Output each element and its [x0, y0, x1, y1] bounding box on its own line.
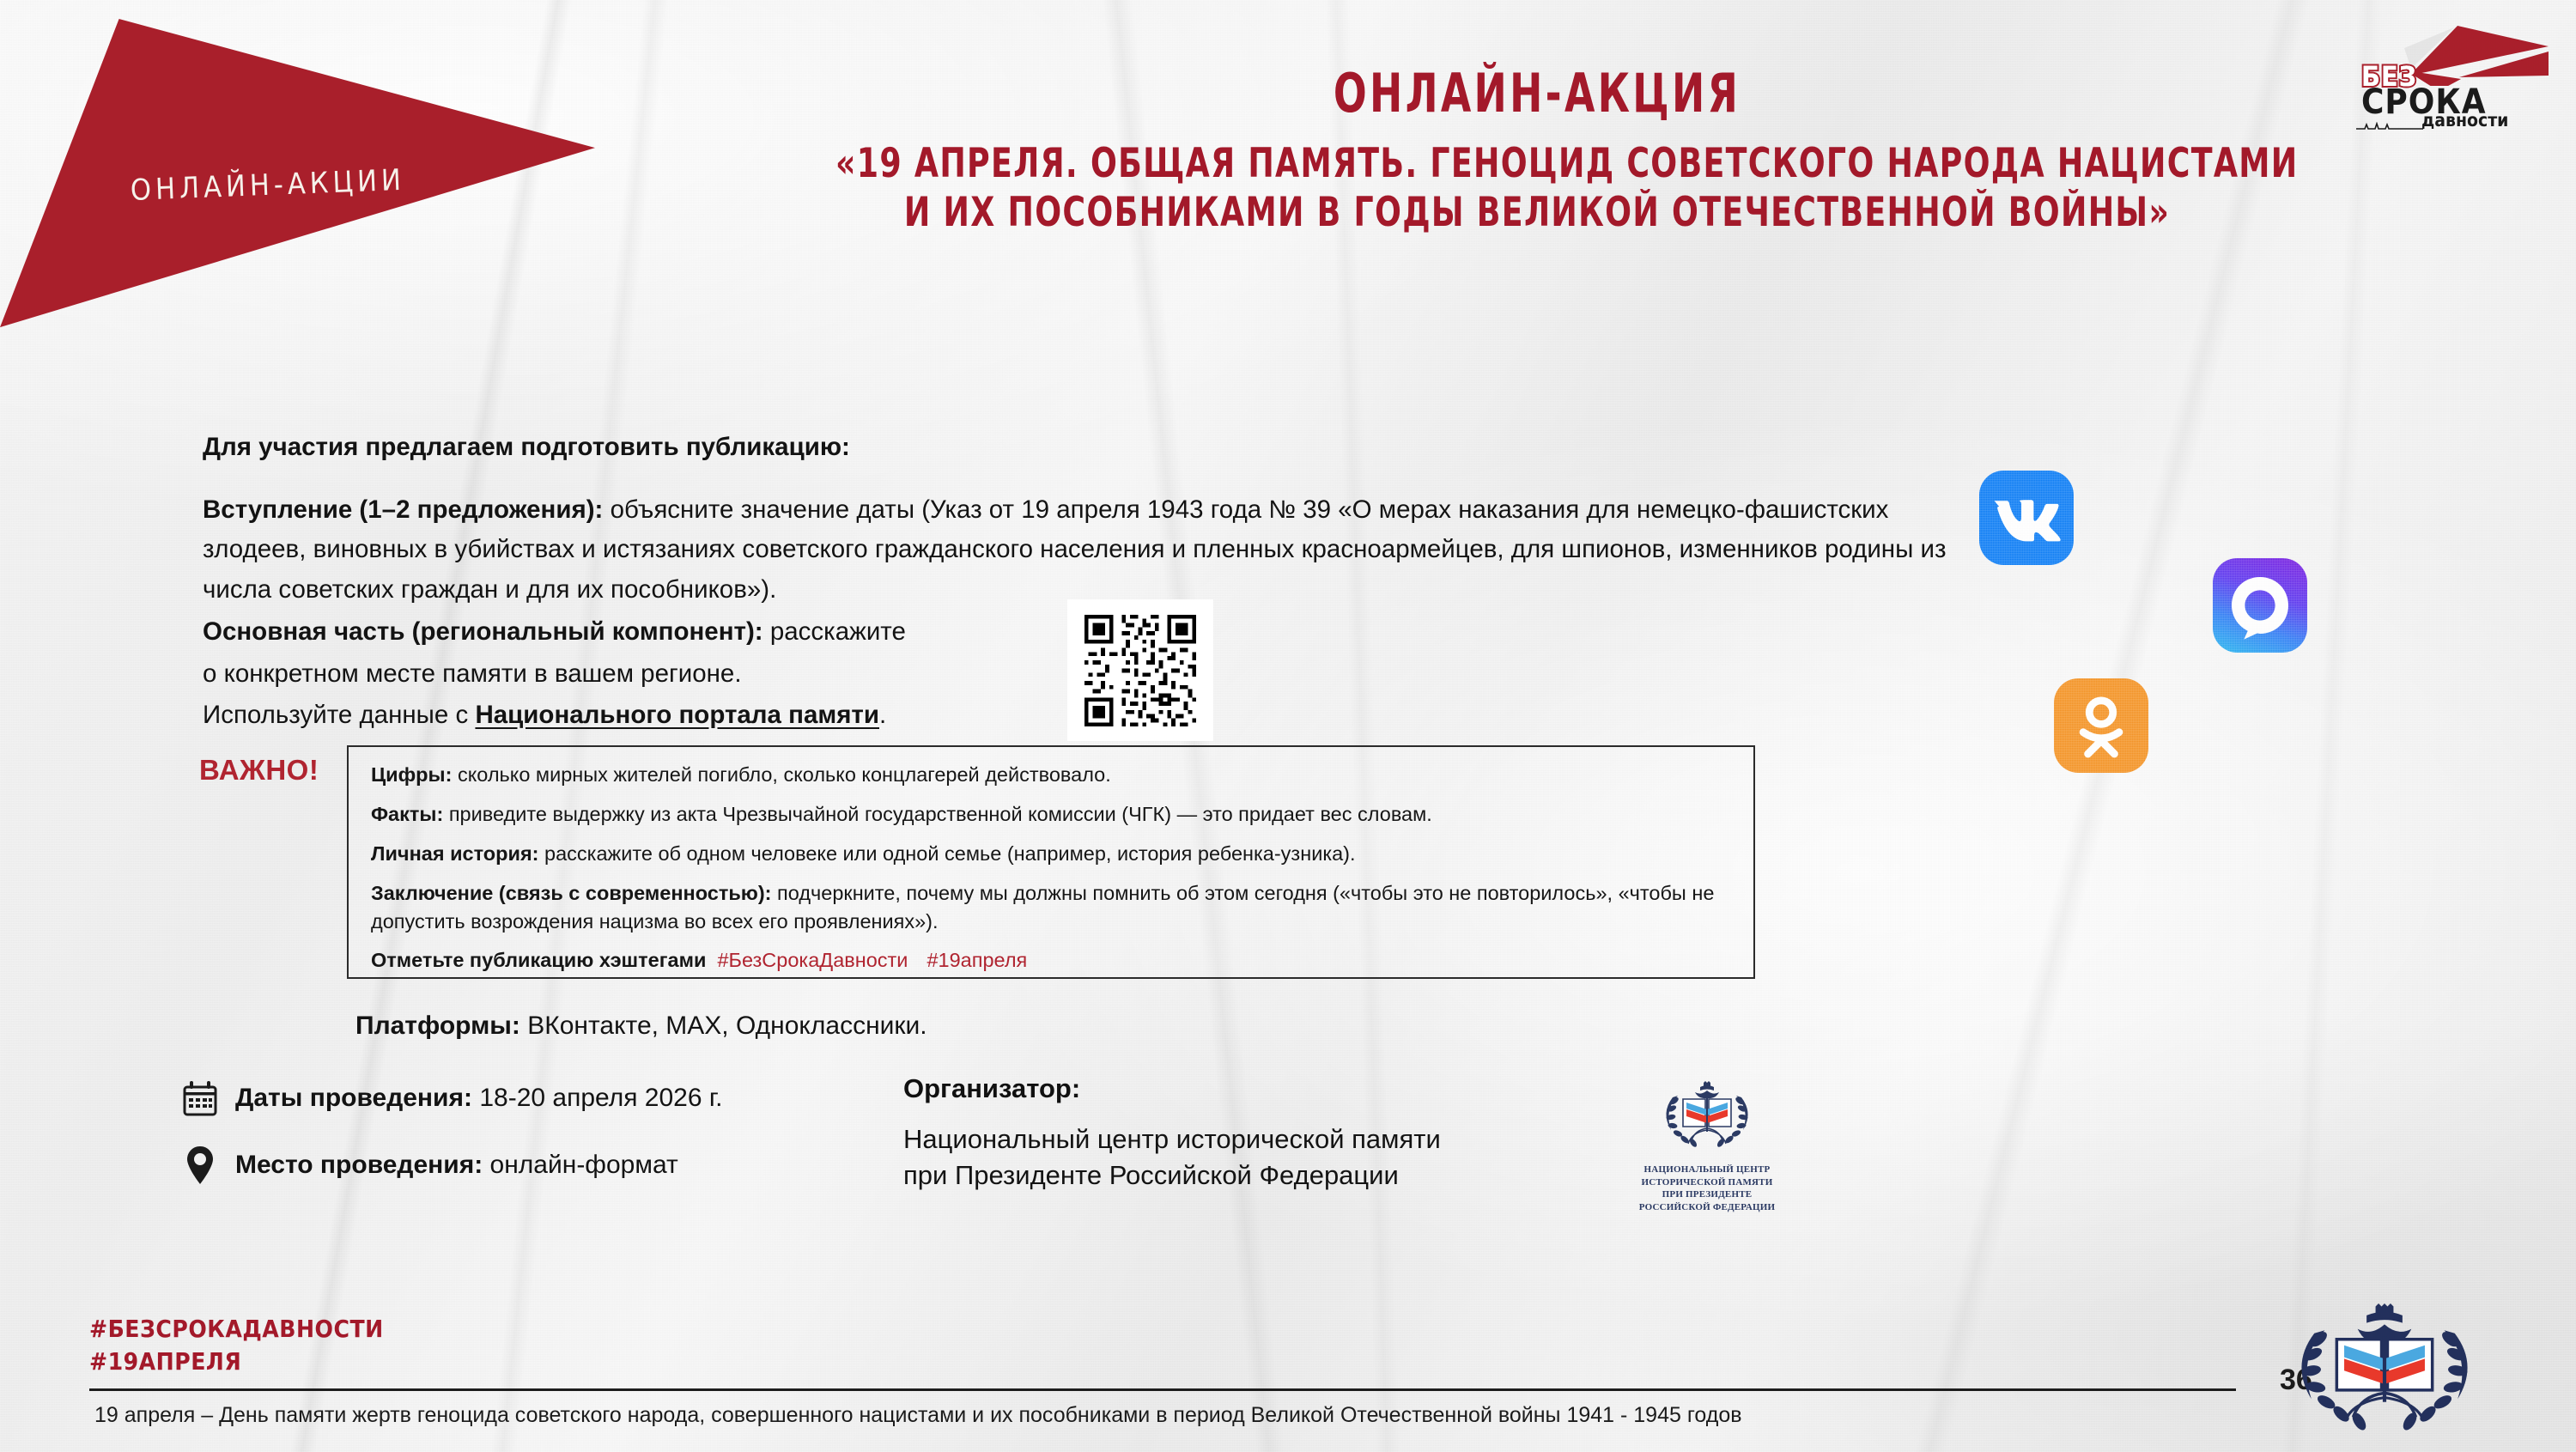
ncip-caption-line-1: НАЦИОНАЛЬНЫЙ ЦЕНТР	[1628, 1163, 1786, 1176]
important-item: Факты: приведите выдержку из акта Чрезвы…	[371, 800, 1731, 829]
footer-divider	[89, 1388, 2236, 1391]
title-block: ОНЛАЙН-АКЦИЯ «19 АПРЕЛЯ. ОБЩАЯ ПАМЯТЬ. Г…	[721, 67, 2353, 238]
main-part-label: Основная часть (региональный компонент):	[203, 617, 763, 646]
place-row: Место проведения: онлайн-формат	[180, 1143, 833, 1188]
main-part-line-2: о конкретном месте памяти в вашем регион…	[203, 653, 1061, 696]
important-item-text: расскажите об одном человеке или одной с…	[539, 842, 1356, 865]
hashtag-19aprelya[interactable]: #19апреля	[927, 949, 1027, 971]
platforms-row: Платформы: ВКонтакте, MAX, Одноклассники…	[355, 1012, 927, 1041]
important-item: Цифры: сколько мирных жителей погибло, с…	[371, 761, 1731, 789]
calendar-icon	[180, 1076, 220, 1121]
vk-icon[interactable]	[1979, 471, 2074, 565]
organizer-name: Национальный центр исторической памяти п…	[903, 1121, 1676, 1193]
organizer-title: Организатор:	[903, 1073, 1676, 1104]
body-copy: Для участия предлагаем подготовить публи…	[203, 428, 1971, 610]
ncip-caption-line-4: РОССИЙСКОЙ ФЕДЕРАЦИИ	[1628, 1201, 1786, 1214]
main-part-block: Основная часть (региональный компонент):…	[203, 611, 1061, 737]
odnoklassniki-icon[interactable]	[2054, 678, 2148, 773]
max-messenger-icon[interactable]	[2213, 558, 2307, 653]
location-pin-icon	[180, 1143, 220, 1188]
important-label: ВАЖНО!	[199, 754, 319, 787]
ecg-line-icon	[2356, 122, 2425, 131]
bez-sroka-davnosti-logo: БЕЗ БЕЗ СРОКА давности	[2354, 15, 2552, 127]
important-item: Личная история: расскажите об одном чело…	[371, 840, 1731, 868]
footer-hashtag-2[interactable]: #19АПРЕЛЯ	[89, 1346, 384, 1378]
important-item: Заключение (связь с современностью): под…	[371, 879, 1731, 936]
page-subtitle: «19 АПРЕЛЯ. ОБЩАЯ ПАМЯТЬ. ГЕНОЦИД СОВЕТС…	[721, 139, 2353, 238]
dates-text: Даты проведения: 18-20 апреля 2026 г.	[235, 1084, 722, 1113]
important-item-text: сколько мирных жителей погибло, сколько …	[452, 763, 1110, 786]
ncip-emblem-caption: НАЦИОНАЛЬНЫЙ ЦЕНТР ИСТОРИЧЕСКОЙ ПАМЯТИ П…	[1628, 1163, 1786, 1213]
place-value: онлайн-формат	[483, 1151, 678, 1179]
dates-label: Даты проведения:	[235, 1084, 472, 1112]
important-item-label: Личная история:	[371, 842, 539, 865]
arrow-mark-icon	[2404, 17, 2550, 86]
main-part-text-3-pre: Используйте данные с	[203, 701, 475, 729]
main-part-line-3: Используйте данные с Национального порта…	[203, 695, 1061, 737]
hashtag-prompt-row: Отметьте публикацию хэштегами #БезСрокаД…	[371, 946, 1731, 975]
body-intro-label: Вступление (1–2 предложения):	[203, 495, 603, 524]
organizer-name-line-1: Национальный центр исторической памяти	[903, 1121, 1676, 1157]
important-item-label: Цифры:	[371, 763, 452, 786]
important-item-label: Заключение (связь с современностью):	[371, 882, 772, 904]
qr-code[interactable]	[1067, 599, 1213, 741]
event-meta-block: Даты проведения: 18-20 апреля 2026 г. Ме…	[180, 1076, 833, 1210]
platforms-label: Платформы:	[355, 1012, 520, 1040]
important-item-label: Факты:	[371, 803, 443, 825]
ncip-emblem-icon	[1628, 1080, 1786, 1159]
ncip-emblem: НАЦИОНАЛЬНЫЙ ЦЕНТР ИСТОРИЧЕСКОЙ ПАМЯТИ П…	[1628, 1080, 1786, 1209]
main-part-line-1: Основная часть (региональный компонент):…	[203, 611, 1061, 653]
page-subtitle-line-2: И ИХ ПОСОБНИКАМИ В ГОДЫ ВЕЛИКОЙ ОТЕЧЕСТВ…	[835, 188, 2239, 237]
footer-hashtags: #БЕЗСРОКАДАВНОСТИ #19АПРЕЛЯ	[89, 1313, 384, 1378]
main-part-text-3-post: .	[879, 701, 886, 729]
section-banner-pennant: ОНЛАЙН-АКЦИИ	[0, 19, 721, 345]
organizer-block: Организатор: Национальный центр историче…	[903, 1073, 1676, 1193]
body-lead: Для участия предлагаем подготовить публи…	[203, 428, 1971, 468]
place-text: Место проведения: онлайн-формат	[235, 1151, 678, 1180]
place-label: Место проведения:	[235, 1151, 483, 1179]
hashtag-prompt: Отметьте публикацию хэштегами	[371, 949, 706, 971]
footer-hashtag-1[interactable]: #БЕЗСРОКАДАВНОСТИ	[89, 1313, 384, 1346]
hashtag-bezsrokadavnosti[interactable]: #БезСрокаДавности	[717, 949, 908, 971]
body-intro-paragraph: Вступление (1–2 предложения): объясните …	[203, 490, 1971, 611]
bottom-right-emblem	[2294, 1303, 2475, 1441]
logo-line-3: давности	[2421, 110, 2508, 131]
slide-canvas: ОНЛАЙН-АКЦИИ БЕЗ БЕЗ СРОКА давности ОНЛА…	[0, 0, 2576, 1452]
platforms-value: ВКонтакте, MAX, Одноклассники.	[520, 1012, 927, 1040]
education-emblem-icon	[2294, 1303, 2475, 1441]
hashtag-list: #БезСрокаДавности#19апреля	[706, 949, 1046, 971]
ncip-caption-line-3: ПРИ ПРЕЗИДЕНТЕ	[1628, 1188, 1786, 1201]
organizer-name-line-2: при Президенте Российской Федерации	[903, 1157, 1676, 1194]
dates-row: Даты проведения: 18-20 апреля 2026 г.	[180, 1076, 833, 1121]
main-part-text-1: расскажите	[763, 617, 906, 646]
important-box: Цифры: сколько мирных жителей погибло, с…	[347, 745, 1755, 979]
dates-value: 18-20 апреля 2026 г.	[472, 1084, 722, 1112]
ncip-caption-line-2: ИСТОРИЧЕСКОЙ ПАМЯТИ	[1628, 1176, 1786, 1189]
important-item-text: приведите выдержку из акта Чрезвычайной …	[443, 803, 1432, 825]
national-memory-portal-link[interactable]: Национального портала памяти	[475, 701, 879, 729]
page-subtitle-line-1: «19 АПРЕЛЯ. ОБЩАЯ ПАМЯТЬ. ГЕНОЦИД СОВЕТС…	[835, 139, 2239, 188]
page-title: ОНЛАЙН-АКЦИЯ	[868, 67, 2206, 120]
qr-code-icon	[1080, 611, 1200, 731]
footer-note: 19 апреля – День памяти жертв геноцида с…	[94, 1403, 1742, 1428]
